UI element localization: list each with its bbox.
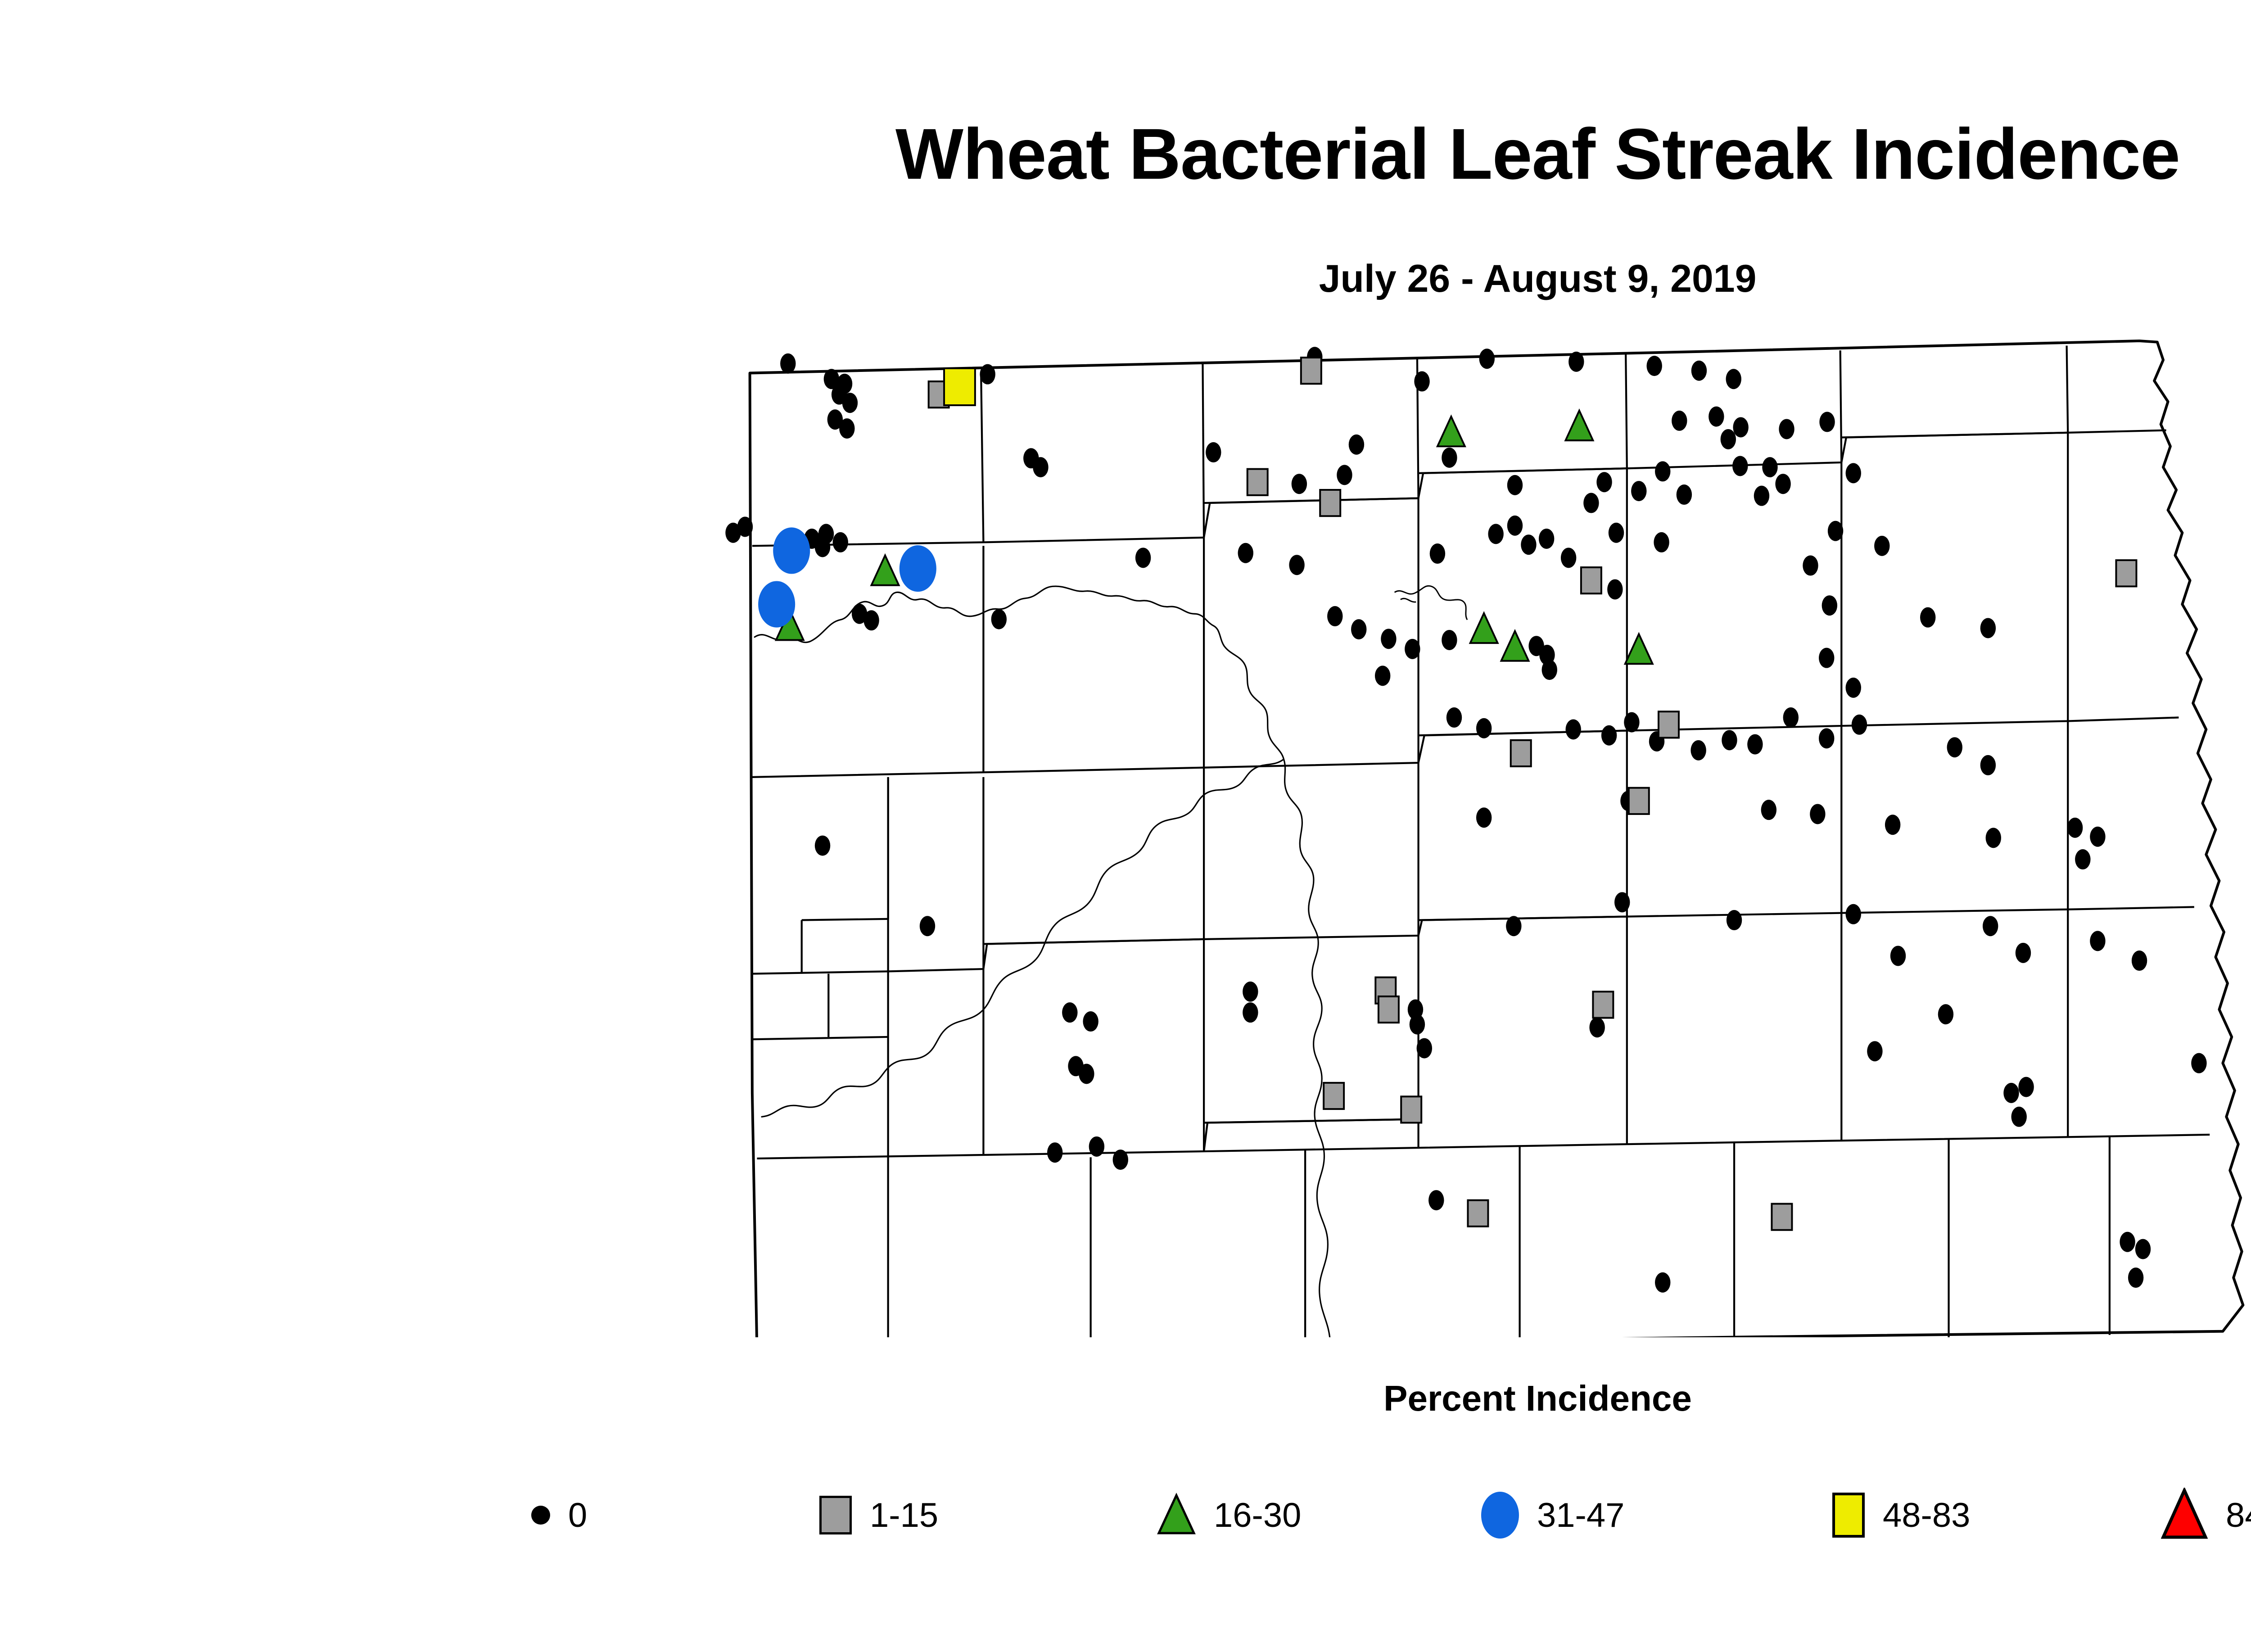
missouri-river-south [1284, 759, 1330, 1337]
map-marker-0 [1691, 740, 1706, 760]
map-marker-16-30 [1501, 631, 1529, 661]
map-marker-0 [1405, 639, 1420, 659]
map-marker-0 [2191, 1053, 2206, 1073]
map-marker-0 [1672, 411, 1687, 431]
map-marker-0 [1375, 665, 1390, 686]
map-marker-0 [1655, 461, 1670, 481]
map-marker-0 [1980, 755, 1996, 775]
legend-label-5: 84-100 [2226, 1496, 2251, 1535]
map-marker-0 [1589, 1017, 1605, 1037]
map-marker-0 [1414, 371, 1429, 392]
map-marker-0 [1289, 555, 1304, 575]
map-marker-0 [1890, 946, 1906, 966]
map-marker-1-15 [1379, 996, 1399, 1023]
map-marker-0 [1542, 660, 1557, 680]
map-marker-0 [815, 836, 830, 856]
legend-label-0: 0 [568, 1496, 587, 1535]
map-marker-0 [2075, 849, 2090, 869]
map-marker-0 [2128, 1267, 2143, 1288]
map-marker-31-47 [773, 527, 810, 574]
legend-item-5[interactable]: 84-100 [2161, 1477, 2251, 1553]
map-marker-0 [1566, 720, 1581, 740]
red-triangle-icon [2161, 1488, 2208, 1543]
legend-label-3: 31-47 [1537, 1496, 1624, 1535]
map-marker-0 [863, 610, 879, 630]
map-marker-0 [1488, 524, 1503, 544]
map-marker-0 [1047, 1142, 1062, 1163]
map-marker-0 [1722, 730, 1737, 750]
map-marker-0 [1292, 474, 1307, 494]
map-marker-0 [1417, 1038, 1432, 1059]
map-marker-0 [1410, 1014, 1425, 1035]
map-marker-0 [1819, 728, 1834, 748]
map-marker-16-30 [1566, 411, 1593, 440]
map-marker-0 [1506, 916, 1521, 936]
map-marker-0 [1428, 1190, 1444, 1210]
legend-item-4[interactable]: 48-83 [1832, 1477, 1970, 1553]
map-marker-48-83 [944, 368, 975, 405]
map-marker-0 [2120, 1232, 2135, 1252]
page-title: Wheat Bacterial Leaf Streak Incidence [0, 113, 2251, 195]
map-marker-1-15 [1401, 1096, 1421, 1122]
map-marker-0 [1874, 536, 1889, 556]
map-marker-0 [1846, 904, 1861, 924]
map-marker-1-15 [1468, 1200, 1488, 1227]
map-marker-0 [1762, 457, 1777, 477]
map-marker-0 [1614, 892, 1630, 912]
blue-circle-icon [1481, 1492, 1519, 1539]
map-marker-0 [1647, 356, 1662, 376]
map-marker-0 [1803, 556, 1818, 576]
map-marker-0 [1747, 734, 1763, 755]
map-marker-0 [2003, 1083, 2019, 1103]
map-marker-0 [2011, 1107, 2027, 1127]
map-marker-0 [1819, 412, 1835, 432]
map-marker-0 [1947, 737, 1962, 757]
map-marker-0 [1779, 419, 1794, 439]
map-marker-0 [2132, 950, 2147, 971]
map-marker-16-30 [1437, 416, 1465, 446]
map-marker-1-15 [1629, 788, 1649, 814]
map-marker-1-15 [1659, 711, 1679, 738]
map-marker-0 [1539, 529, 1554, 549]
map-marker-1-15 [2116, 560, 2136, 586]
map-marker-0 [1079, 1064, 1094, 1084]
map-marker-0 [1601, 725, 1617, 746]
map-marker-1-15 [1324, 1083, 1344, 1109]
map-marker-0 [1885, 815, 1900, 835]
map-marker-0 [980, 364, 995, 385]
map-marker-0 [1033, 457, 1048, 477]
map-marker-0 [1761, 800, 1776, 820]
small-black-dot-icon [531, 1506, 550, 1525]
map-marker-0 [1507, 475, 1523, 495]
map-marker-0 [1083, 1011, 1098, 1032]
map-marker-0 [815, 537, 830, 557]
map-marker-0 [2067, 818, 2083, 838]
map-marker-0 [1980, 618, 1996, 638]
map-marker-0 [1351, 619, 1366, 639]
map-marker-0 [1867, 1041, 1882, 1061]
map-marker-0 [1568, 352, 1584, 372]
map-marker-0 [1986, 828, 2001, 848]
map-marker-0 [920, 916, 935, 936]
map-marker-0 [1206, 442, 1221, 462]
map-marker-0 [1810, 804, 1825, 824]
map-marker-0 [1507, 516, 1523, 536]
map-marker-0 [1062, 1002, 1077, 1023]
map-marker-0 [1596, 472, 1612, 492]
map-marker-0 [1243, 982, 1258, 1002]
map-marker-1-15 [1593, 991, 1613, 1018]
map-marker-0 [1476, 807, 1492, 828]
map-marker-0 [1089, 1136, 1104, 1157]
map-marker-0 [1938, 1004, 1953, 1024]
map-marker-0 [2016, 943, 2031, 963]
map-marker-0 [1983, 916, 1998, 936]
legend-label-4: 48-83 [1883, 1496, 1970, 1535]
map-marker-16-30 [1625, 634, 1653, 664]
map-marker-0 [1561, 548, 1576, 568]
legend-title: Percent Incidence [0, 1378, 2251, 1419]
map-marker-0 [1920, 607, 1935, 628]
devils-lake [1395, 586, 1467, 620]
map-marker-0 [1446, 707, 1462, 728]
map-marker-16-30 [1470, 613, 1498, 643]
map-marker-0 [2135, 1239, 2151, 1259]
map-marker-0 [1846, 678, 1861, 698]
map-marker-0 [1624, 712, 1639, 733]
map-marker-0 [1430, 543, 1445, 564]
map-marker-0 [1822, 595, 1837, 616]
map-marker-1-15 [1320, 490, 1340, 516]
map-marker-0 [1721, 429, 1736, 449]
map-marker-0 [1442, 630, 1457, 650]
map-marker-0 [1583, 493, 1599, 513]
map-marker-0 [1819, 648, 1834, 668]
map-marker-1-15 [1248, 469, 1268, 495]
map-marker-0 [842, 393, 858, 413]
map-marker-0 [1654, 532, 1669, 552]
map-marker-1-15 [1301, 358, 1321, 384]
legend-item-1[interactable]: 1-15 [819, 1477, 938, 1553]
map-marker-0 [2090, 827, 2105, 847]
map-marker-0 [1726, 369, 1741, 389]
map-marker-0 [737, 517, 753, 537]
legend-item-3[interactable]: 31-47 [1481, 1477, 1624, 1553]
map-marker-0 [2090, 931, 2105, 951]
map-marker-0 [1709, 407, 1724, 427]
map-marker-1-15 [1511, 740, 1531, 766]
map-marker-31-47 [758, 581, 795, 627]
map-marker-0 [1381, 629, 1396, 649]
map-marker-0 [1113, 1150, 1128, 1170]
map-marker-0 [780, 353, 796, 374]
legend-item-0[interactable]: 0 [531, 1477, 587, 1553]
map-marker-0 [1337, 465, 1352, 485]
north-dakota-map [621, 324, 2251, 1337]
map-marker-0 [991, 609, 1007, 629]
incidence-markers [725, 347, 2206, 1292]
map-marker-0 [839, 418, 854, 439]
map-marker-0 [1691, 361, 1707, 381]
map-marker-0 [1135, 548, 1151, 568]
map-marker-0 [1733, 417, 1748, 437]
map-marker-0 [1327, 606, 1342, 626]
yellow-square-icon [1832, 1493, 1865, 1538]
missouri-river [755, 586, 1330, 1337]
map-canvas [621, 324, 2251, 1337]
map-marker-0 [1775, 474, 1790, 494]
green-triangle-icon [1157, 1493, 1196, 1538]
map-marker-0 [1243, 1002, 1258, 1023]
map-marker-0 [1783, 707, 1799, 728]
map-marker-0 [1442, 448, 1457, 468]
map-marker-0 [1846, 463, 1861, 483]
legend-item-2[interactable]: 16-30 [1157, 1477, 1301, 1553]
map-marker-0 [1677, 484, 1692, 505]
map-marker-0 [1727, 910, 1742, 930]
map-marker-0 [1349, 434, 1364, 455]
map-marker-0 [1631, 481, 1646, 501]
map-marker-0 [1609, 523, 1624, 543]
map-marker-16-30 [872, 556, 899, 585]
map-marker-1-15 [1772, 1204, 1792, 1230]
map-marker-0 [1521, 534, 1536, 555]
legend: 0 1-15 16-30 31-47 48-83 84-100 [531, 1477, 2251, 1553]
legend-label-1: 1-15 [870, 1496, 938, 1535]
legend-label-2: 16-30 [1214, 1496, 1301, 1535]
state-outline [750, 341, 2243, 1337]
map-marker-0 [1655, 1272, 1670, 1293]
map-marker-0 [1852, 715, 1867, 735]
page-subtitle: July 26 - August 9, 2019 [0, 257, 2251, 301]
map-marker-0 [1479, 349, 1495, 369]
map-marker-0 [833, 532, 848, 552]
map-marker-0 [2018, 1077, 2034, 1097]
map-marker-0 [1828, 521, 1843, 541]
map-marker-0 [1476, 718, 1492, 738]
gray-square-icon [819, 1496, 852, 1534]
map-marker-1-15 [1581, 567, 1601, 593]
map-marker-0 [1607, 579, 1623, 599]
heart-river-tributary [762, 759, 1284, 1117]
map-marker-31-47 [899, 545, 936, 592]
map-marker-0 [1732, 456, 1748, 476]
map-marker-0 [1754, 486, 1769, 506]
county-boundaries [750, 341, 2243, 1337]
map-marker-0 [1238, 543, 1253, 563]
